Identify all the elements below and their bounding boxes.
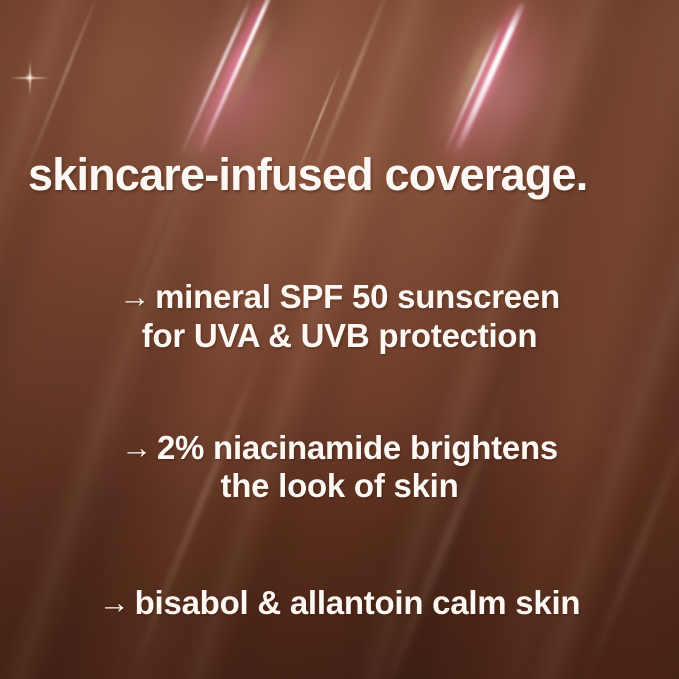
list-item: →bisabol & allantoin calm skin <box>0 546 679 623</box>
list-item-label: bisabol & allantoin calm skin <box>135 584 581 621</box>
list-item: →2% niacinamide brightens the look of sk… <box>0 391 679 506</box>
text-content: skincare-infused coverage. →mineral SPF … <box>0 0 679 679</box>
list-item: →mineral SPF 50 sunscreen for UVA & UVB … <box>0 240 679 355</box>
arrow-right-icon: → <box>121 430 157 465</box>
list-item-label: 2% niacinamide brightens the look of ski… <box>157 429 558 504</box>
arrow-right-icon: → <box>99 585 135 620</box>
benefits-list: →mineral SPF 50 sunscreen for UVA & UVB … <box>0 240 679 622</box>
list-item-label: mineral SPF 50 sunscreen for UVA & UVB p… <box>142 278 560 353</box>
arrow-right-icon: → <box>119 279 155 314</box>
page-title: skincare-infused coverage. <box>28 152 668 197</box>
promo-graphic: skincare-infused coverage. →mineral SPF … <box>0 0 679 679</box>
